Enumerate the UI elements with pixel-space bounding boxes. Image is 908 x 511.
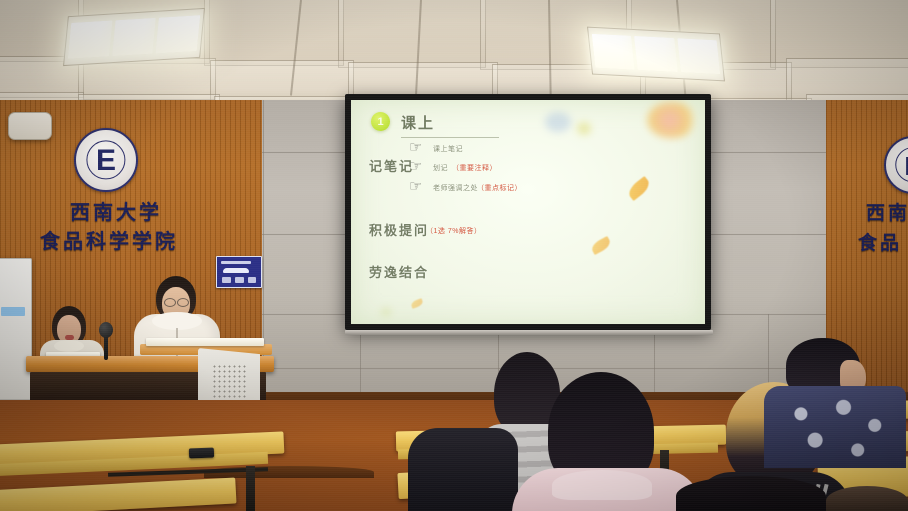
podium-microphone [99, 322, 113, 338]
student-pink-hoodie [518, 372, 698, 511]
slide-bullet-2-note: （重要注释） [452, 163, 497, 173]
torso [408, 428, 518, 511]
hoodie-collar [54, 340, 84, 352]
hair [826, 486, 908, 511]
slide-point-2-label: 积极提问 [369, 220, 429, 239]
student-dark-jacket [408, 420, 518, 511]
ceiling-light-left [63, 8, 205, 66]
slide-title-underline [401, 137, 499, 138]
wall-speaker [8, 112, 52, 140]
student-panda-jacket [760, 338, 900, 468]
sign-line-2: 食品科学学院 [40, 225, 178, 254]
slide-section-notes-label: 记笔记 [369, 156, 414, 175]
pointing-hand-icon: ☞ [409, 140, 422, 155]
slide-bullet-3-note: （重点标记） [477, 183, 522, 193]
sign-line-1: 西南大学 [70, 196, 162, 225]
smartphone [189, 448, 214, 459]
classroom-photo: E 西南大学 食品科学学院 E 西南 食品 1 课上 [0, 0, 908, 511]
eyeglasses-icon [164, 298, 176, 307]
hair [676, 476, 826, 511]
light-tube [68, 20, 112, 59]
slide-decoration-flower [647, 102, 697, 138]
sign-right-line-1: 西南 [866, 198, 908, 225]
projector-screen-frame: 1 课上 记笔记 ☞ 课上笔记 ☞ 划记 （重要注释） ☞ 老师强调之处 （重点… [345, 94, 711, 330]
pointing-hand-icon: ☞ [409, 179, 422, 194]
ceiling-light-right [587, 27, 725, 82]
lecture-notes [146, 338, 264, 346]
torso [764, 386, 906, 468]
wall-cabinet [0, 258, 32, 400]
slide-decoration-dot-blue [545, 112, 571, 132]
desk-leg [246, 466, 255, 511]
slide-point-3-label: 劳逸结合 [369, 262, 429, 281]
slide-number-badge: 1 [371, 112, 390, 131]
pointing-hand-icon: ☞ [409, 159, 422, 174]
projected-slide: 1 课上 记笔记 ☞ 课上笔记 ☞ 划记 （重要注释） ☞ 老师强调之处 （重点… [351, 100, 705, 324]
light-tube [677, 38, 720, 74]
slide-point-2-note: （1选 7%解答） [426, 226, 481, 236]
slide-bullet-1-text: 课上笔记 [433, 144, 463, 154]
slide-bullet-3-text: 老师强调之处 [433, 183, 478, 193]
slide-title: 课上 [401, 112, 435, 133]
slide-decoration-leaf [626, 176, 653, 201]
student-back-row [676, 476, 826, 511]
university-emblem-left: E [74, 128, 138, 192]
sign-right-line-2: 食品 [858, 228, 902, 255]
light-tube [592, 34, 635, 70]
slide-decoration-dot-yellow [577, 122, 591, 135]
light-tube [112, 18, 156, 57]
emblem-mark-label: E [904, 153, 908, 179]
student-back-row [826, 486, 908, 511]
slide-decoration-dot-small [381, 308, 391, 316]
eyeglasses-icon [177, 298, 189, 307]
cabinet-label [1, 307, 25, 316]
hoodie-hood [552, 470, 652, 500]
light-tube [156, 15, 200, 54]
slide-decoration-leaf [590, 236, 613, 255]
slide-decoration-leaf [410, 298, 424, 309]
projector-screen-bottom-bar [345, 330, 713, 335]
light-tube [634, 36, 677, 72]
slide-bullet-2-text: 划记 [433, 163, 448, 173]
emblem-mark-label: E [96, 146, 116, 176]
